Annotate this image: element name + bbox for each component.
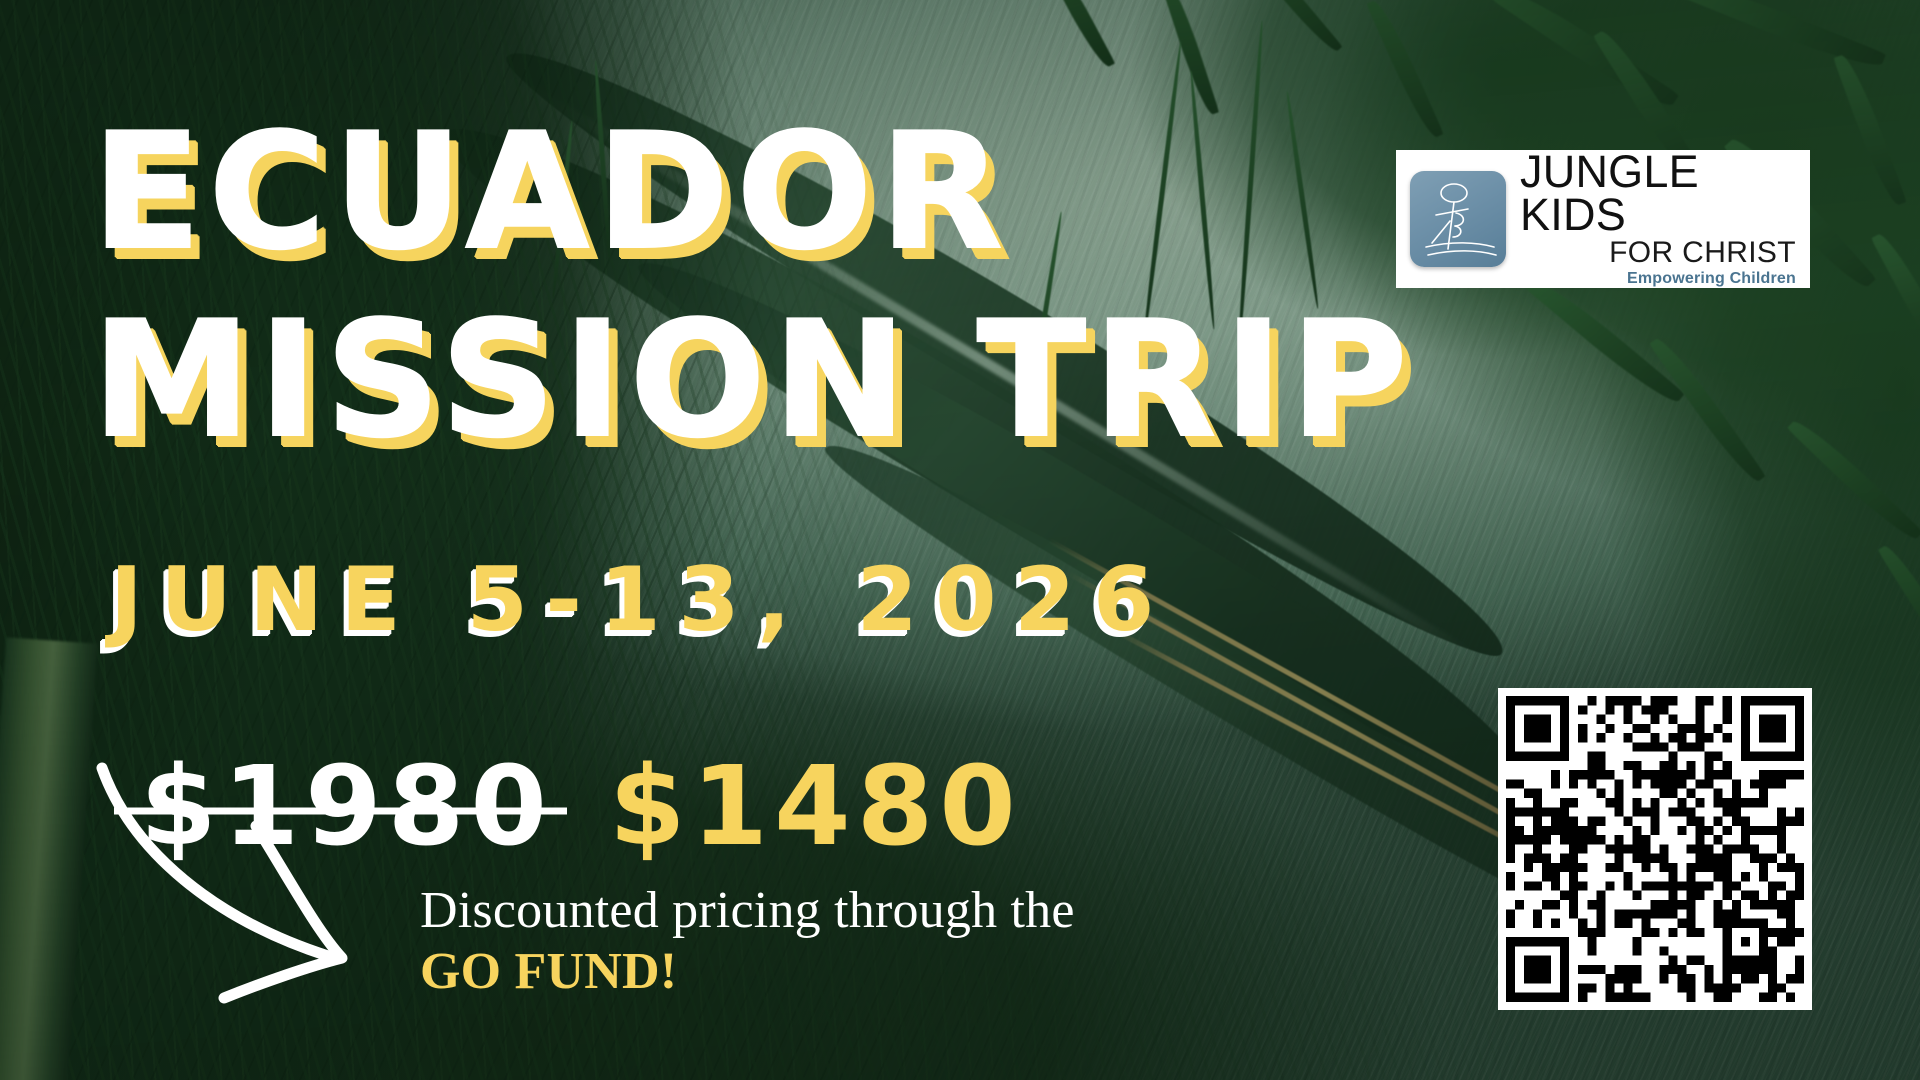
hand-drawn-arrow-icon — [96, 760, 436, 1020]
qr-code-image — [1506, 696, 1804, 1002]
discounted-price: $1480 — [609, 742, 1022, 870]
organization-logo[interactable]: JUNGLE KIDS FOR CHRIST Empowering Childr… — [1396, 150, 1810, 288]
jungle-kids-figure-icon — [1410, 171, 1506, 267]
tagline-prefix-text: Discounted pricing through the — [420, 882, 1075, 939]
trip-date: JUNE 5-13, 2026 — [110, 548, 1172, 651]
logo-name-line-2: FOR CHRIST — [1520, 238, 1796, 269]
logo-name-line-1: JUNGLE KIDS — [1520, 150, 1796, 236]
poster-content: ECUADOR MISSION TRIP JUNE 5-13, 2026 $19… — [0, 0, 1920, 1080]
logo-tagline: Empowering Children — [1520, 270, 1796, 288]
logo-wordmark: JUNGLE KIDS FOR CHRIST Empowering Childr… — [1520, 150, 1796, 288]
discount-tagline: Discounted pricing through the GO FUND! — [420, 880, 1120, 1003]
go-fund-highlight: GO FUND! — [420, 943, 677, 1000]
poster-title-line-2: MISSION TRIP — [92, 300, 1415, 460]
poster-canvas: ECUADOR MISSION TRIP JUNE 5-13, 2026 $19… — [0, 0, 1920, 1080]
poster-title-line-1: ECUADOR — [92, 112, 1010, 272]
qr-code[interactable] — [1498, 688, 1812, 1010]
